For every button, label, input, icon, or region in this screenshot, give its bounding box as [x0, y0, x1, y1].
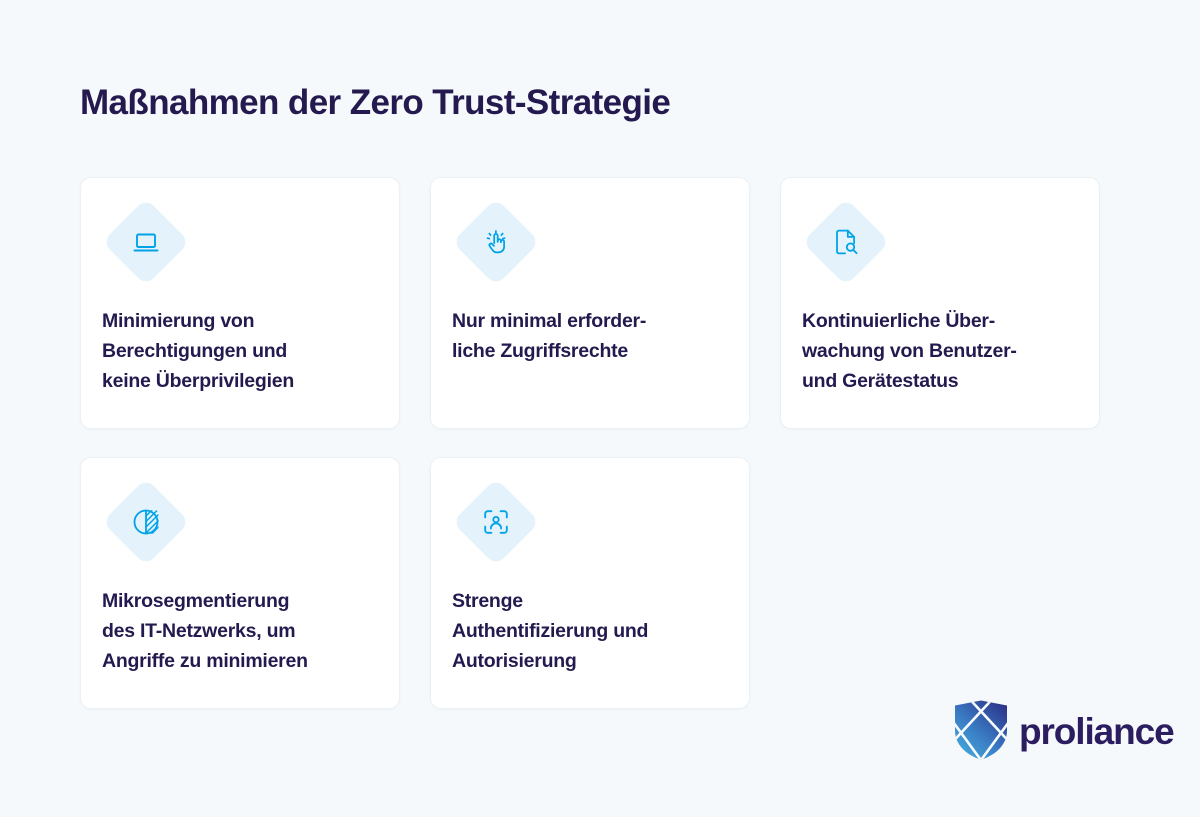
icon-badge [452, 198, 540, 286]
measure-card: Kontinuierliche Über- wachung von Benutz… [780, 177, 1100, 429]
measure-text: Nur minimal erforder- liche Zugriffsrech… [452, 306, 733, 366]
segmented-circle-icon [131, 507, 161, 537]
measure-card: Minimierung von Berechtigungen und keine… [80, 177, 400, 429]
face-scan-icon [481, 507, 511, 537]
measure-card: Strenge Authentifizierung und Autorisier… [430, 457, 750, 709]
shield-lattice-icon [952, 699, 1010, 761]
tap-hand-icon [481, 227, 511, 257]
page-title: Maßnahmen der Zero Trust-Strategie [80, 83, 670, 123]
measures-card-grid: Minimierung von Berechtigungen und keine… [80, 177, 1101, 709]
icon-badge [452, 478, 540, 566]
measure-text: Mikrosegmentierung des IT-Netzwerks, um … [102, 586, 383, 676]
measure-text: Minimierung von Berechtigungen und keine… [102, 306, 383, 396]
measure-card: Nur minimal erforder- liche Zugriffsrech… [430, 177, 750, 429]
measure-card: Mikrosegmentierung des IT-Netzwerks, um … [80, 457, 400, 709]
document-search-icon [831, 227, 861, 257]
measure-text: Kontinuierliche Über- wachung von Benutz… [802, 306, 1083, 396]
icon-badge [802, 198, 890, 286]
measure-text: Strenge Authentifizierung und Autorisier… [452, 586, 733, 676]
logo-wordmark: proliance [1019, 713, 1174, 750]
proliance-logo: proliance [952, 699, 1147, 761]
icon-badge [102, 478, 190, 566]
icon-badge [102, 198, 190, 286]
laptop-icon [131, 227, 161, 257]
infographic-page: Maßnahmen der Zero Trust-Strategie Minim… [0, 0, 1200, 817]
